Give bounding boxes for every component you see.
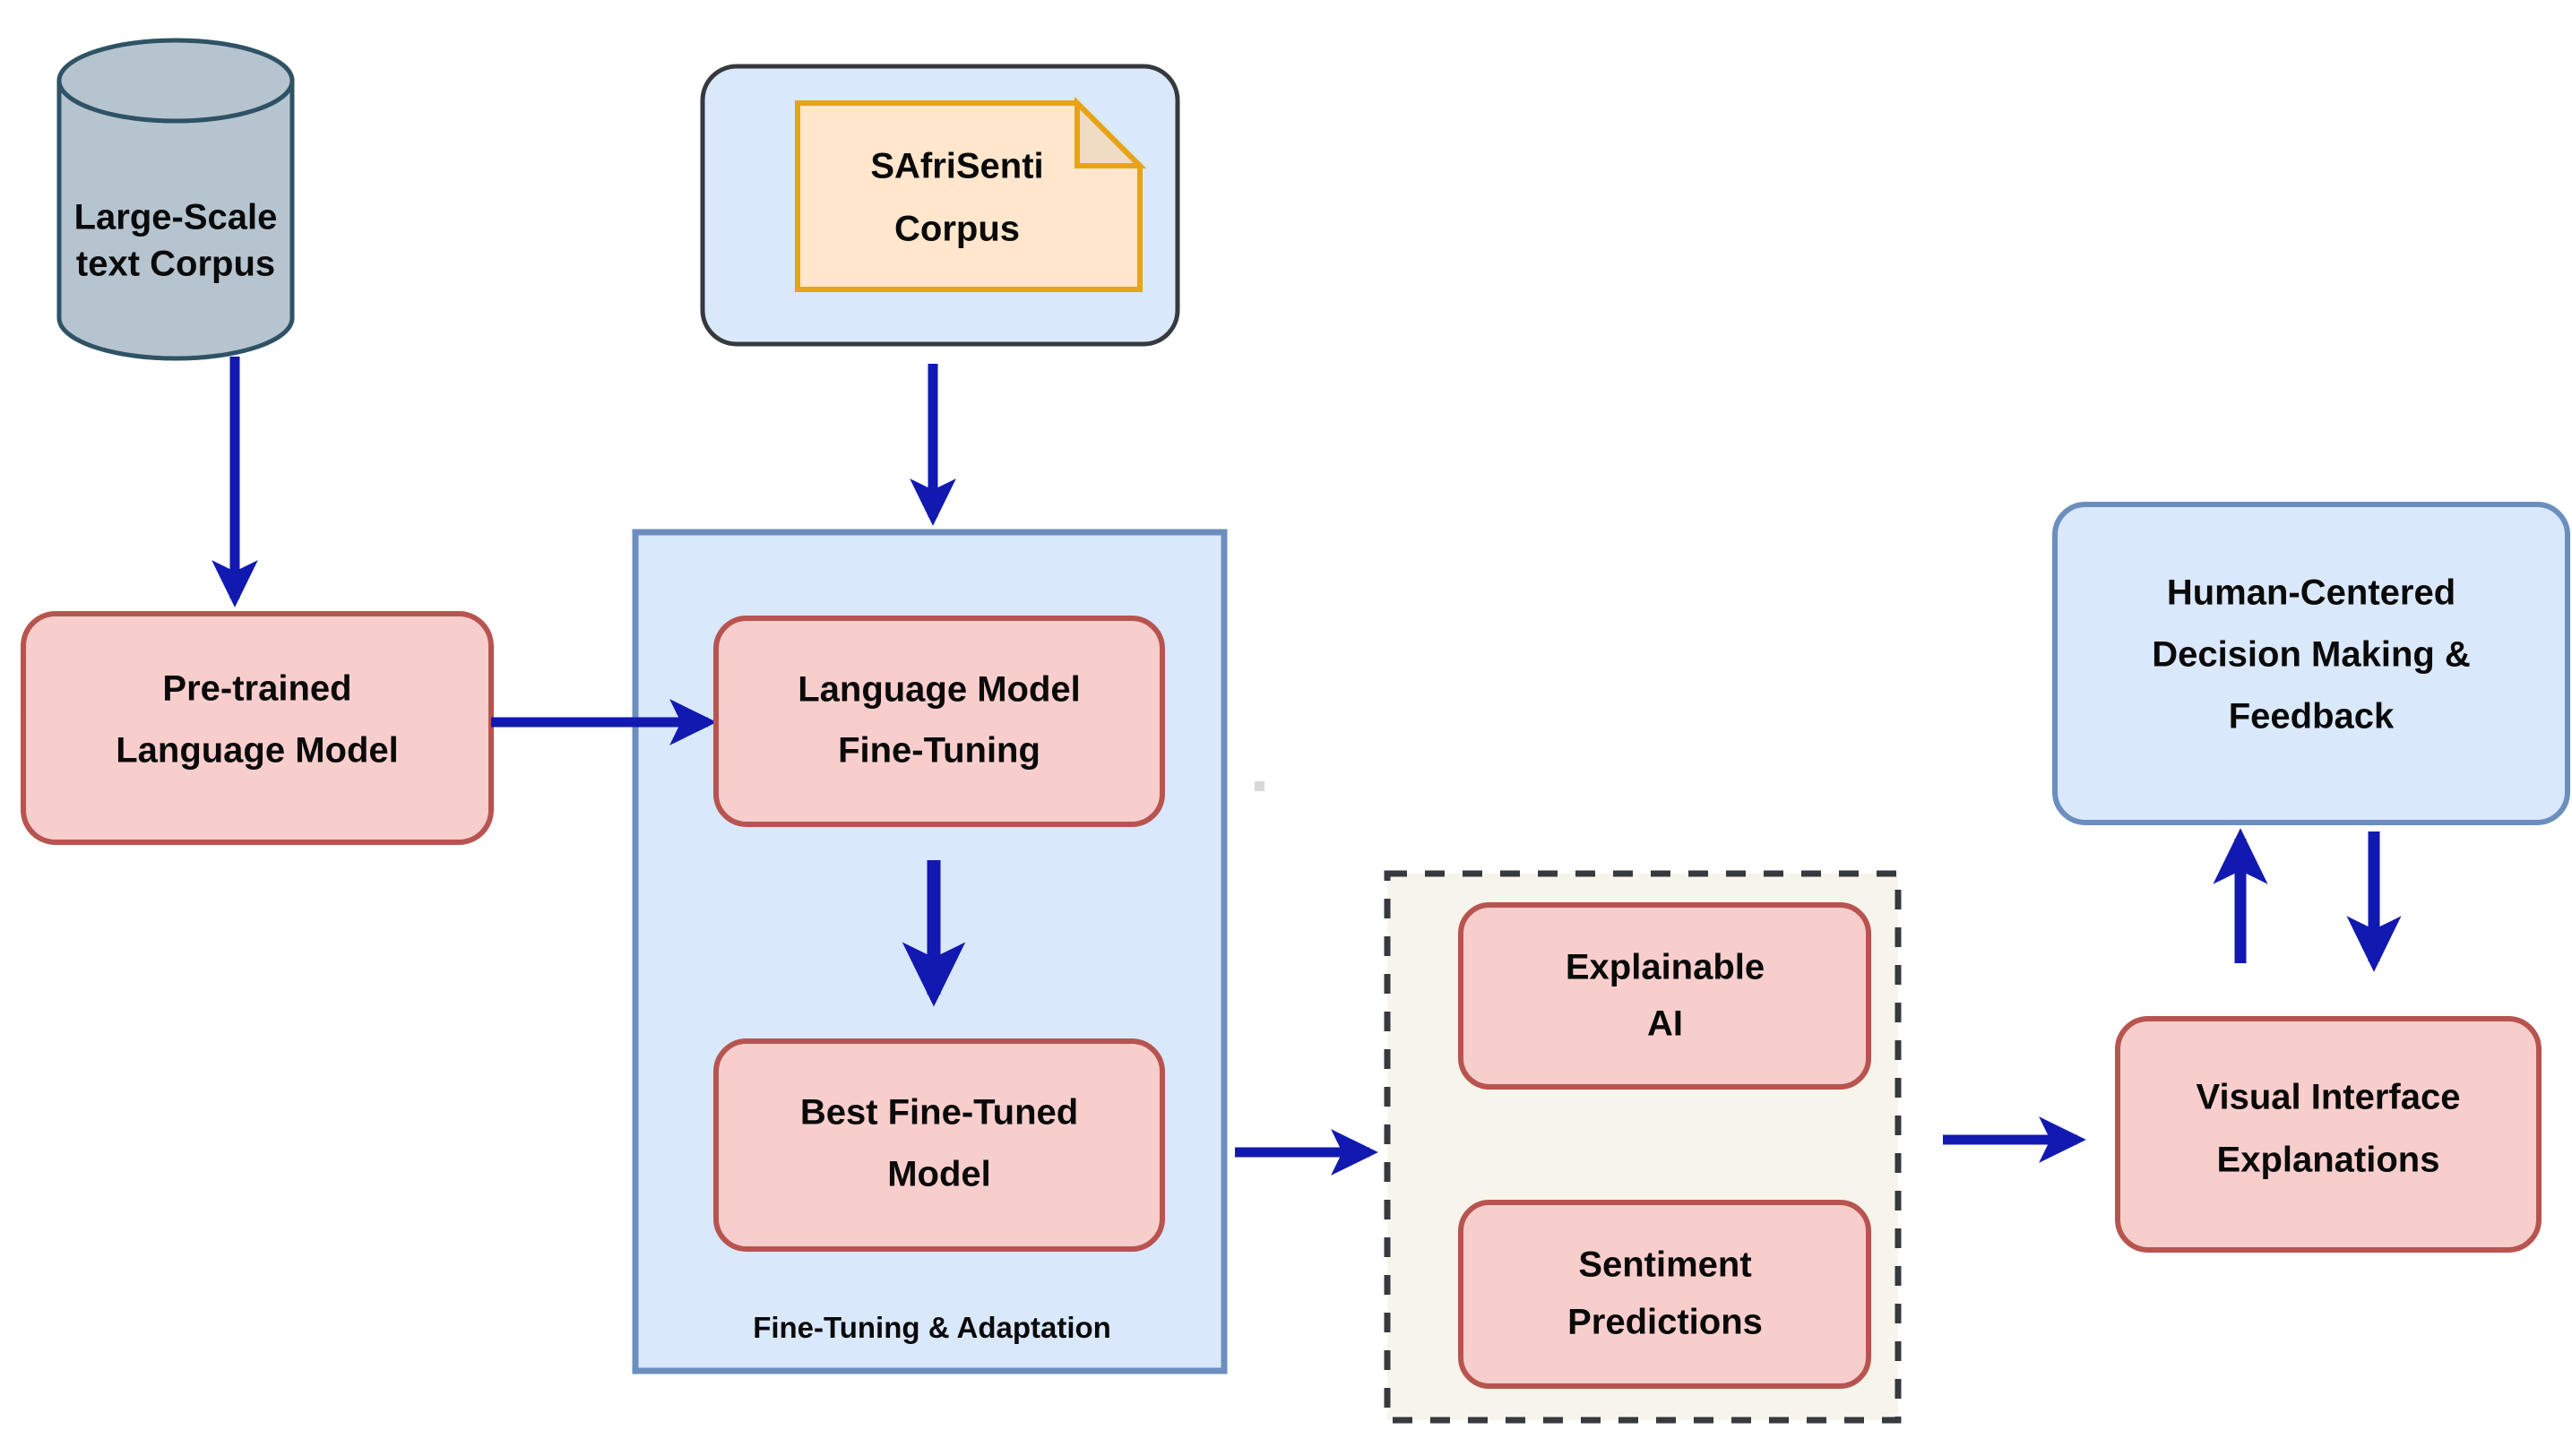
node-best-finetuned-model[interactable]: Best Fine-Tuned Model — [716, 1041, 1162, 1249]
safrisenti-label-line2: Corpus — [894, 210, 1020, 249]
node-lm-finetuning[interactable]: Language Model Fine-Tuning — [716, 618, 1162, 824]
visual-interface-rect — [2118, 1019, 2539, 1250]
visual-interface-label-line2: Explanations — [2217, 1141, 2440, 1180]
node-explainable-ai[interactable]: Explainable AI — [1461, 905, 1869, 1087]
node-safrisenti-container[interactable]: SAfriSenti Corpus — [703, 66, 1178, 344]
sentiment-predictions-label-line2: Predictions — [1567, 1303, 1763, 1342]
explainable-ai-label-line1: Explainable — [1566, 948, 1765, 987]
node-visual-interface[interactable]: Visual Interface Explanations — [2118, 1019, 2539, 1250]
best-finetuned-model-label-line2: Model — [887, 1155, 991, 1194]
stray-mark — [1255, 781, 1264, 791]
diagram-root: Large-Scale text Corpus SAfriSenti Corpu… — [0, 0, 2572, 1456]
finetune-group-caption: Fine-Tuning & Adaptation — [753, 1311, 1111, 1344]
human-centered-label-line1: Human-Centered — [2167, 573, 2455, 613]
lm-finetuning-label-line2: Fine-Tuning — [838, 731, 1040, 771]
node-human-centered[interactable]: Human-Centered Decision Making & Feedbac… — [2055, 504, 2568, 823]
best-finetuned-model-rect — [716, 1041, 1162, 1249]
sentiment-predictions-label-line1: Sentiment — [1578, 1245, 1751, 1285]
large-scale-corpus-label-line1: Large-Scale — [74, 198, 278, 237]
human-centered-label-line2: Decision Making & — [2152, 635, 2471, 675]
human-centered-label-line3: Feedback — [2229, 697, 2395, 737]
pretrained-lm-label-line2: Language Model — [116, 731, 399, 771]
node-sentiment-predictions[interactable]: Sentiment Predictions — [1461, 1202, 1869, 1386]
pretrained-lm-label-line1: Pre-trained — [162, 669, 351, 709]
explainable-ai-rect — [1461, 905, 1869, 1087]
lm-finetuning-label-line1: Language Model — [798, 670, 1081, 710]
node-pretrained-lm[interactable]: Pre-trained Language Model — [23, 614, 491, 842]
cylinder-top — [59, 40, 292, 121]
safrisenti-label-line1: SAfriSenti — [870, 147, 1043, 186]
diagram-canvas: Large-Scale text Corpus SAfriSenti Corpu… — [0, 0, 2572, 1456]
sentiment-predictions-rect — [1461, 1202, 1869, 1386]
visual-interface-label-line1: Visual Interface — [2197, 1078, 2461, 1117]
best-finetuned-model-label-line1: Best Fine-Tuned — [800, 1093, 1078, 1133]
pretrained-lm-rect — [23, 614, 491, 842]
explainable-ai-label-line2: AI — [1647, 1004, 1683, 1044]
lm-finetuning-rect — [716, 618, 1162, 824]
node-large-scale-corpus[interactable]: Large-Scale text Corpus — [59, 40, 292, 358]
large-scale-corpus-label-line2: text Corpus — [76, 245, 275, 284]
